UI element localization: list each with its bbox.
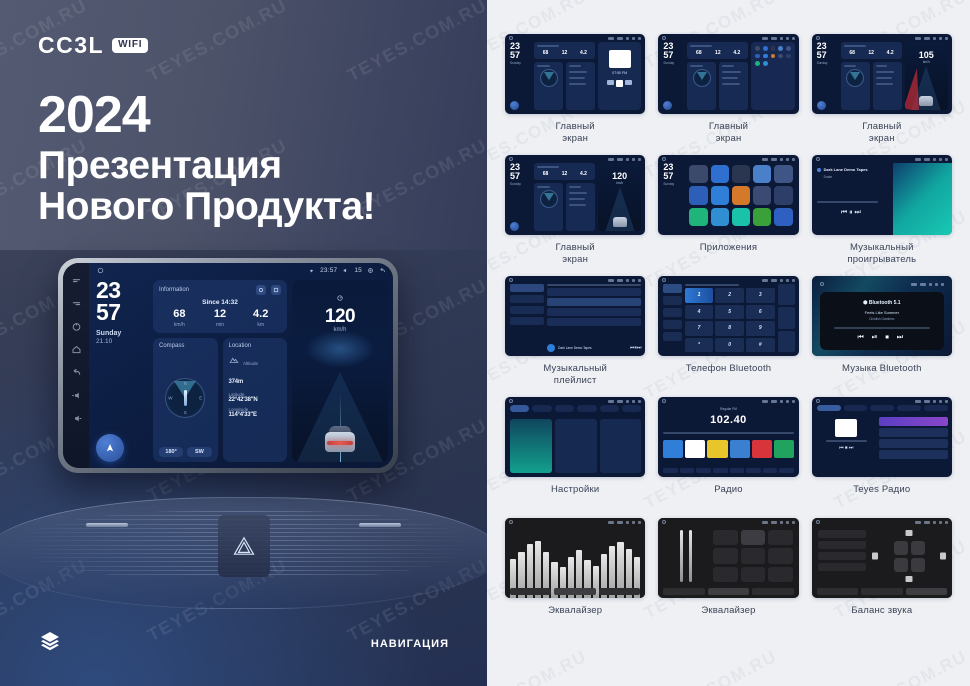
trip-stat-time: 12 min	[200, 309, 241, 328]
screenshot-thumbnail-music-player[interactable]: Dark Lane Demo Tapes Drake ⏮ ⏸ ⏭	[812, 155, 952, 235]
location-card[interactable]: Location Altitude 374m	[223, 338, 288, 462]
screenshot-caption: Эквалайзер	[701, 605, 755, 629]
gallery-item: Эквалайзер	[505, 518, 645, 629]
back-icon[interactable]	[379, 267, 386, 274]
trip-speed-value: 68	[159, 309, 200, 320]
headline-year: 2024	[38, 88, 375, 143]
screenshot-caption: Радио	[714, 484, 742, 508]
gallery-item: 2357SundayПриложения	[658, 155, 798, 266]
back-button[interactable]	[71, 367, 82, 378]
widget-column: Information Since 14:32 68	[153, 280, 287, 462]
hardware-button-strip[interactable]	[63, 263, 89, 468]
presentation-slide: TEYES.COM.RUTEYES.COM.RUTEYES.COM.RUTEYE…	[0, 0, 970, 686]
screenshot-caption: Главныйэкран	[709, 121, 748, 145]
trip-distance-value: 4.2	[240, 309, 281, 320]
screenshot-thumbnail-bt-phone[interactable]: 123456789*0#	[658, 276, 798, 356]
screenshot-thumbnail-music-playlist[interactable]: Dark Lane Demo Tapes⏮⏸⏭	[505, 276, 645, 356]
volume-up-button[interactable]	[71, 413, 82, 424]
gallery-item: Баланс звука	[812, 518, 952, 629]
compass-dial: N S W E	[165, 378, 205, 418]
layers-icon[interactable]	[38, 629, 62, 658]
head-unit-display: 23:57 15 23 57 Sunday 21.10	[63, 263, 393, 468]
screenshot-caption: Музыкальныйплейлист	[543, 363, 607, 387]
vent-knob-right	[359, 523, 401, 527]
power-button[interactable]	[71, 321, 82, 332]
volume-down-button[interactable]	[71, 390, 82, 401]
speed-unit: km/h	[292, 327, 388, 333]
screenshot-caption: Музыка Bluetooth	[842, 363, 922, 387]
information-title: Information	[159, 287, 189, 293]
vent-knob-left	[86, 523, 128, 527]
page-title: 2024 Презентация Нового Продукта!	[38, 88, 375, 228]
screenshot-thumbnail-teyes-radio[interactable]: ⏮ ⏹ ⏭	[812, 397, 952, 477]
screenshot-thumbnail-home-apps[interactable]: 23 57 Sunday 68124.2	[658, 34, 798, 114]
latitude-value: 22°42'38"N	[229, 397, 282, 403]
headline-line1: Презентация	[38, 145, 375, 186]
screenshot-thumbnail-home-road[interactable]: 23 57 Sunday 68124.2 120km/h	[505, 155, 645, 235]
home-icon[interactable]	[97, 267, 104, 274]
clock-weekday: Sunday	[96, 330, 148, 337]
compass-e: E	[199, 396, 202, 401]
product-logo: CC3L WIFI	[38, 32, 148, 59]
head-unit-screen[interactable]: 23:57 15 23 57 Sunday 21.10	[89, 263, 393, 468]
altitude-label: Altitude	[243, 361, 258, 366]
screenshot-thumbnail-settings[interactable]	[505, 397, 645, 477]
gallery-item: ⏮ ⏹ ⏭ Teyes Радио	[812, 397, 952, 508]
next-button[interactable]	[71, 298, 82, 309]
trip-speed-unit: km/h	[159, 322, 200, 328]
car-illustration	[323, 422, 357, 452]
gallery-item: ⬢ Bluetooth 5.1 Feels Like Summer Childi…	[812, 276, 952, 387]
screenshot-thumbnail-home-road-red[interactable]: 23 57 Sunday 68124.2 105km/h	[812, 34, 952, 114]
gallery-item: 23 57 Sunday 68124.2 120km/h Главныйэкра…	[505, 155, 645, 266]
trip-stat-distance: 4.2 km	[240, 309, 281, 328]
speed-road-widget[interactable]: 120 km/h	[292, 280, 388, 462]
longitude-value: 114°4'33"E	[229, 412, 282, 418]
screenshot-caption: Приложения	[700, 242, 758, 266]
screenshot-thumbnail-apps[interactable]: 2357Sunday	[658, 155, 798, 235]
logo-text: CC3L	[38, 32, 104, 59]
screenshot-caption: Музыкальныйпроигрыватель	[847, 242, 916, 266]
headline-line2: Нового Продукта!	[38, 186, 375, 227]
speed-gauge-icon	[292, 289, 388, 307]
compass-n: N	[184, 381, 187, 386]
gallery-item: Dark Lane Demo Tapes⏮⏸⏭ Музыкальныйплейл…	[505, 276, 645, 387]
screenshot-caption: Эквалайзер	[548, 605, 602, 629]
screenshot-thumbnail-eq-bars[interactable]	[505, 518, 645, 598]
prev-button[interactable]	[71, 275, 82, 286]
gallery-item: Настройки	[505, 397, 645, 508]
screenshot-thumbnail-eq-faders[interactable]	[658, 518, 798, 598]
screenshot-caption: Главныйэкран	[862, 121, 901, 145]
trip-since-label: Since 14:32	[159, 299, 281, 306]
road-glow	[305, 330, 375, 368]
status-bar: 23:57 15	[89, 263, 393, 278]
location-longitude-row: Longitude 114°4'33"E	[229, 407, 282, 418]
screenshot-caption: Teyes Радио	[853, 484, 910, 508]
screenshot-caption: Главныйэкран	[556, 242, 595, 266]
clock-minutes: 57	[96, 302, 148, 324]
mountain-icon	[229, 352, 239, 369]
location-altitude-row: Altitude 374m	[229, 352, 282, 388]
compass-degrees: 180°	[159, 447, 183, 457]
screenshot-grid: 23 57 Sunday 68124.2 07:50 FM Главныйэкр…	[505, 34, 952, 629]
gallery-item: 23 57 Sunday 68124.2 07:50 FM Главныйэкр…	[505, 34, 645, 145]
gallery-item: Regular FM 102.40 Радио	[658, 397, 798, 508]
head-unit-device: 23:57 15 23 57 Sunday 21.10	[58, 258, 398, 473]
status-time: 23:57	[320, 267, 337, 274]
trip-time-value: 12	[200, 309, 241, 320]
trip-distance-unit: km	[240, 322, 281, 328]
home-screen: 23 57 Sunday 21.10 Information	[89, 278, 393, 468]
screenshot-thumbnail-radio[interactable]: Regular FM 102.40	[658, 397, 798, 477]
compass-direction: SW	[187, 447, 211, 457]
screenshot-caption: Телефон Bluetooth	[686, 363, 772, 387]
speed-value: 120	[292, 307, 388, 326]
slide-footer: НАВИГАЦИЯ	[0, 601, 487, 686]
trip-time-unit: min	[200, 322, 241, 328]
info-expand-icon[interactable]	[271, 285, 281, 295]
settings-icon[interactable]	[367, 267, 374, 274]
wifi-icon	[308, 267, 315, 274]
status-volume: 15	[354, 267, 362, 274]
screenshot-caption: Баланс звука	[851, 605, 912, 629]
dashboard-vent	[0, 497, 487, 609]
trip-stat-speed: 68 km/h	[159, 309, 200, 328]
screenshot-caption: Настройки	[551, 484, 599, 508]
navigation-label: НАВИГАЦИЯ	[371, 638, 449, 650]
compass-needle-icon	[184, 390, 187, 406]
wifi-badge-icon: WIFI	[112, 38, 148, 53]
location-latitude-row: Latitude 22°42'38"N	[229, 392, 282, 403]
compass-s: S	[184, 410, 187, 415]
screenshot-thumbnail-balance[interactable]	[812, 518, 952, 598]
volume-icon[interactable]	[342, 267, 349, 274]
gallery-item: 23 57 Sunday 68124.2 105km/h Главныйэкра…	[812, 34, 952, 145]
screenshot-thumbnail-home-media[interactable]: 23 57 Sunday 68124.2 07:50 FM	[505, 34, 645, 114]
altitude-value: 374m	[229, 379, 244, 385]
screenshot-gallery-panel: TEYES.COM.RUTEYES.COM.RUTEYES.COM.RUTEYE…	[487, 0, 970, 686]
location-title: Location	[229, 343, 282, 349]
clock-widget[interactable]: 23 57 Sunday 21.10	[96, 280, 148, 462]
compass-card[interactable]: Compass N S W E	[153, 338, 218, 462]
screenshot-thumbnail-bt-music[interactable]: ⬢ Bluetooth 5.1 Feels Like Summer Childi…	[812, 276, 952, 356]
home-button[interactable]	[71, 344, 82, 355]
compass-title: Compass	[159, 343, 212, 349]
hazard-button[interactable]	[218, 515, 270, 577]
gallery-item: Эквалайзер	[658, 518, 798, 629]
gallery-item: Dark Lane Demo Tapes Drake ⏮ ⏸ ⏭ Музыкал…	[812, 155, 952, 266]
info-refresh-icon[interactable]	[256, 285, 266, 295]
left-hero-panel: TEYES.COM.RUTEYES.COM.RUTEYES.COM.RUTEYE…	[0, 0, 487, 686]
trip-stats: 68 km/h 12 min 4.2 km	[159, 309, 281, 328]
information-card[interactable]: Information Since 14:32 68	[153, 280, 287, 333]
compass-w: W	[168, 396, 172, 401]
navigation-button[interactable]	[96, 434, 124, 462]
lower-widgets: Compass N S W E	[153, 338, 287, 462]
gallery-item: 123456789*0# Телефон Bluetooth	[658, 276, 798, 387]
gallery-item: 23 57 Sunday 68124.2 Главныйэкран	[658, 34, 798, 145]
screenshot-caption: Главныйэкран	[556, 121, 595, 145]
clock-date: 21.10	[96, 338, 148, 345]
